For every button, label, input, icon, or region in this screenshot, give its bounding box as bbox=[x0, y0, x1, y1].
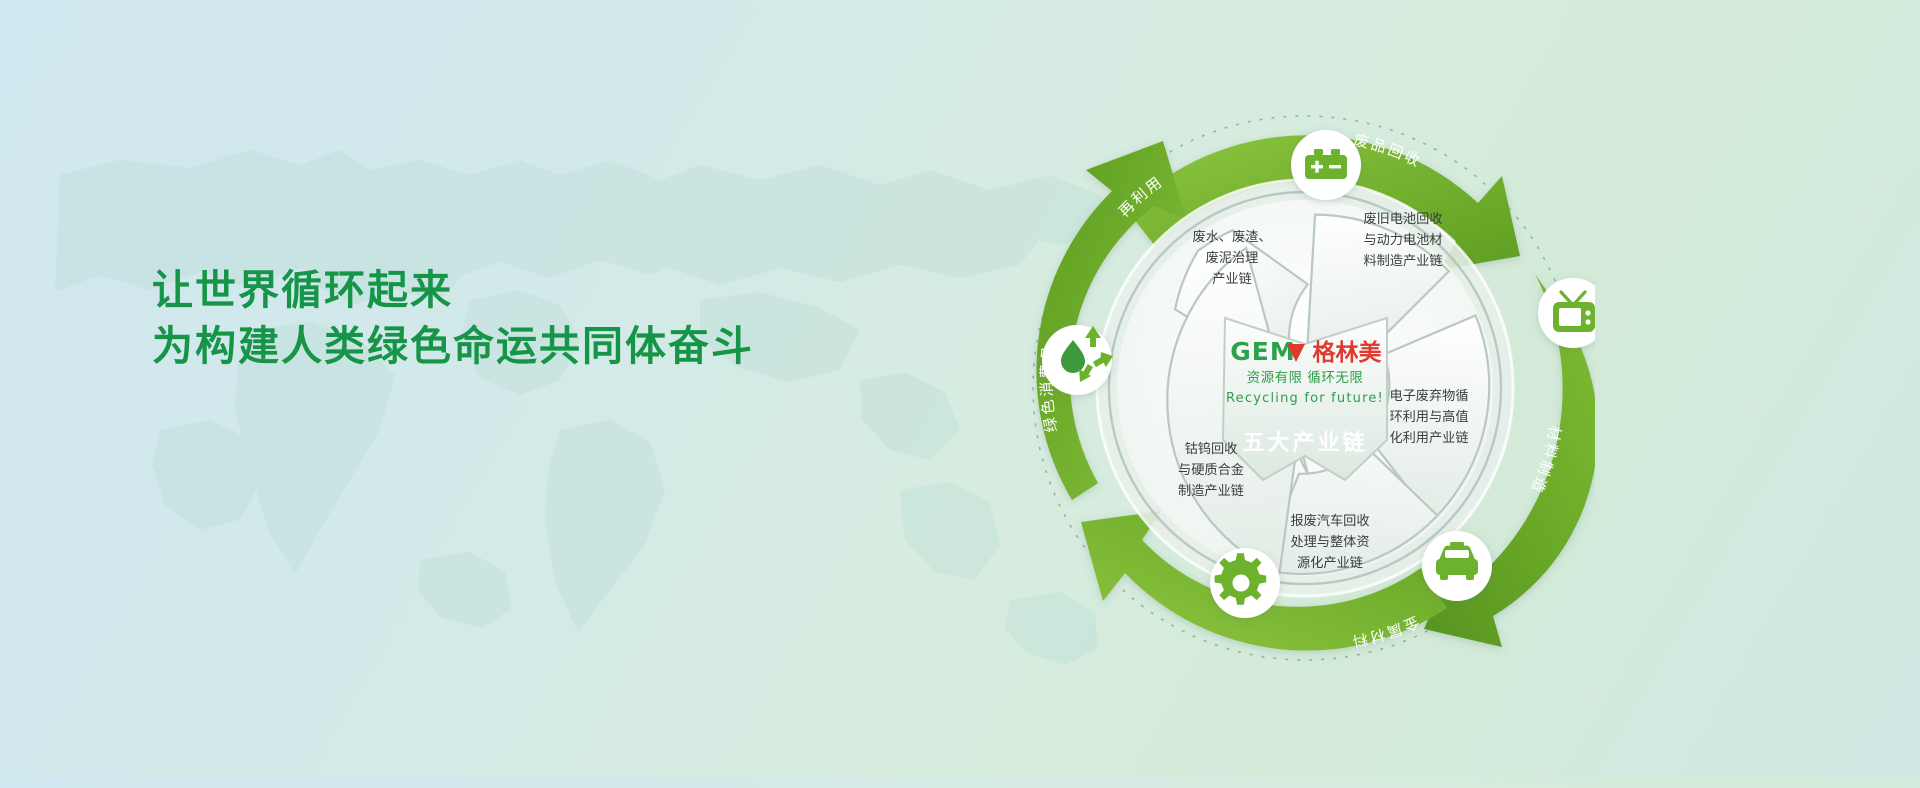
svg-text:钴钨回收: 钴钨回收 bbox=[1185, 441, 1238, 457]
slogan-cn: 资源有限 循环无限 bbox=[1247, 370, 1364, 386]
brand-en: GEM bbox=[1230, 337, 1295, 366]
icon-bubble-gear[interactable] bbox=[1210, 548, 1280, 618]
svg-text:与动力电池材: 与动力电池材 bbox=[1363, 232, 1442, 248]
svg-text:源化产业链: 源化产业链 bbox=[1297, 555, 1363, 571]
slogan-en: Recycling for future! bbox=[1226, 391, 1384, 406]
svg-text:报废汽车回收: 报废汽车回收 bbox=[1290, 512, 1369, 529]
center-subtitle: 五大产业链 bbox=[1242, 430, 1367, 456]
svg-text:产业链: 产业链 bbox=[1212, 271, 1252, 287]
svg-text:废泥治理: 废泥治理 bbox=[1206, 250, 1259, 266]
svg-text:废水、废渣、: 废水、废渣、 bbox=[1192, 229, 1271, 245]
svg-text:与硬质合金: 与硬质合金 bbox=[1178, 462, 1244, 478]
segment-label-vehicle: 报废汽车回收 处理与整体资 源化产业链 bbox=[1290, 512, 1369, 571]
banner-root: 让世界循环起来 为构建人类绿色命运共同体奋斗 bbox=[0, 0, 1920, 777]
icon-bubble-car[interactable] bbox=[1422, 531, 1492, 601]
svg-text:废旧电池回收: 废旧电池回收 bbox=[1363, 211, 1442, 227]
svg-text:料制造产业链: 料制造产业链 bbox=[1363, 253, 1442, 269]
segment-label-e-waste: 电子废弃物循 环利用与高值 化利用产业链 bbox=[1389, 388, 1468, 446]
svg-text:环利用与高值: 环利用与高值 bbox=[1389, 408, 1468, 425]
segment-label-cobalt-tungsten: 钴钨回收 与硬质合金 制造产业链 bbox=[1178, 441, 1244, 499]
icon-bubble-television[interactable] bbox=[1538, 278, 1595, 348]
segment-label-battery: 废旧电池回收 与动力电池材 料制造产业链 bbox=[1363, 211, 1442, 269]
headline-block: 让世界循环起来 为构建人类绿色命运共同体奋斗 bbox=[152, 262, 754, 374]
svg-text:处理与整体资: 处理与整体资 bbox=[1290, 534, 1369, 550]
gear-icon bbox=[1215, 553, 1267, 605]
world-map-background bbox=[0, 0, 1150, 777]
headline-line-1: 让世界循环起来 bbox=[152, 262, 754, 318]
icon-bubble-battery[interactable] bbox=[1291, 130, 1361, 200]
circular-economy-diagram: GEM 格林美 资源有限 循环无限 Recycling for future! … bbox=[1015, 0, 1595, 788]
svg-text:电子废弃物循: 电子废弃物循 bbox=[1389, 388, 1468, 404]
brand-cn: 格林美 bbox=[1313, 339, 1382, 366]
headline-line-2: 为构建人类绿色命运共同体奋斗 bbox=[152, 318, 754, 374]
svg-text:制造产业链: 制造产业链 bbox=[1178, 483, 1244, 499]
svg-text:化利用产业链: 化利用产业链 bbox=[1389, 430, 1468, 446]
